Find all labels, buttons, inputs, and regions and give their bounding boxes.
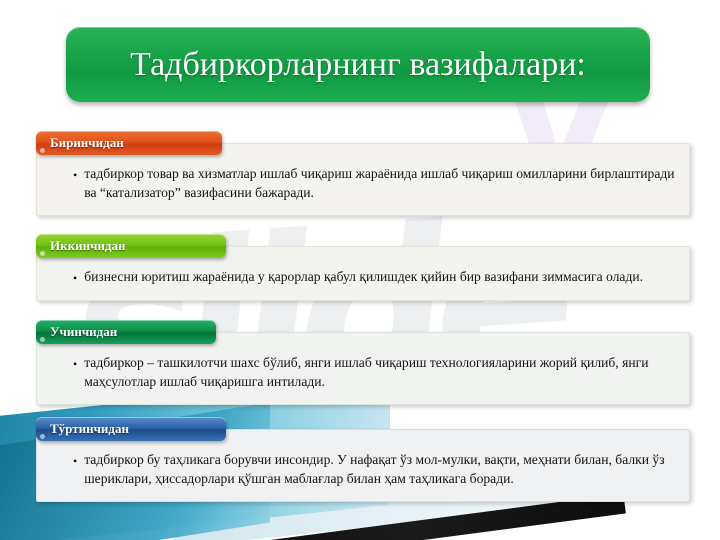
bullet-item-2: • бизнесни юритиш жараёнида у қарорлар қ… — [51, 268, 675, 287]
slide-canvas: slide V Тадбиркорларнинг вазифалари: • т… — [0, 0, 720, 540]
section-tab-label-1: Биринчидан — [50, 135, 124, 151]
page-title: Тадбиркорларнинг вазифалари: — [130, 48, 586, 82]
bullet-text-1: тадбиркор товар ва хизматлар ишлаб чиқар… — [84, 165, 675, 202]
bullet-text-2: бизнесни юритиш жараёнида у қарорлар қаб… — [84, 268, 643, 287]
tab-dot-icon — [40, 148, 45, 153]
bullet-item-4: • тадбиркор бу таҳликага борувчи инсонди… — [51, 451, 675, 488]
bullet-glyph-icon: • — [73, 270, 77, 287]
section-tab-4[interactable]: Тўртинчидан — [36, 417, 226, 441]
bullet-text-4: тадбиркор бу таҳликага борувчи инсондир.… — [84, 451, 675, 488]
section-tab-3[interactable]: Учинчидан — [36, 320, 216, 344]
bullet-item-3: • тадбиркор – ташкилотчи шахс бўлиб, янг… — [51, 354, 675, 391]
section-tab-label-3: Учинчидан — [50, 324, 117, 340]
bullet-item-1: • тадбиркор товар ва хизматлар ишлаб чиқ… — [51, 165, 675, 202]
slide-title-banner: Тадбиркорларнинг вазифалари: — [66, 27, 650, 102]
section-tab-2[interactable]: Иккинчидан — [36, 234, 226, 258]
bullet-glyph-icon: • — [73, 453, 77, 470]
bullet-text-3: тадбиркор – ташкилотчи шахс бўлиб, янги … — [84, 354, 675, 391]
bullet-glyph-icon: • — [73, 356, 77, 373]
tab-dot-icon — [40, 337, 45, 342]
tab-dot-icon — [40, 251, 45, 256]
section-tab-1[interactable]: Биринчидан — [36, 131, 222, 155]
tab-dot-icon — [40, 434, 45, 439]
section-tab-label-2: Иккинчидан — [50, 238, 125, 254]
bullet-glyph-icon: • — [73, 167, 77, 184]
section-tab-label-4: Тўртинчидан — [50, 421, 129, 437]
